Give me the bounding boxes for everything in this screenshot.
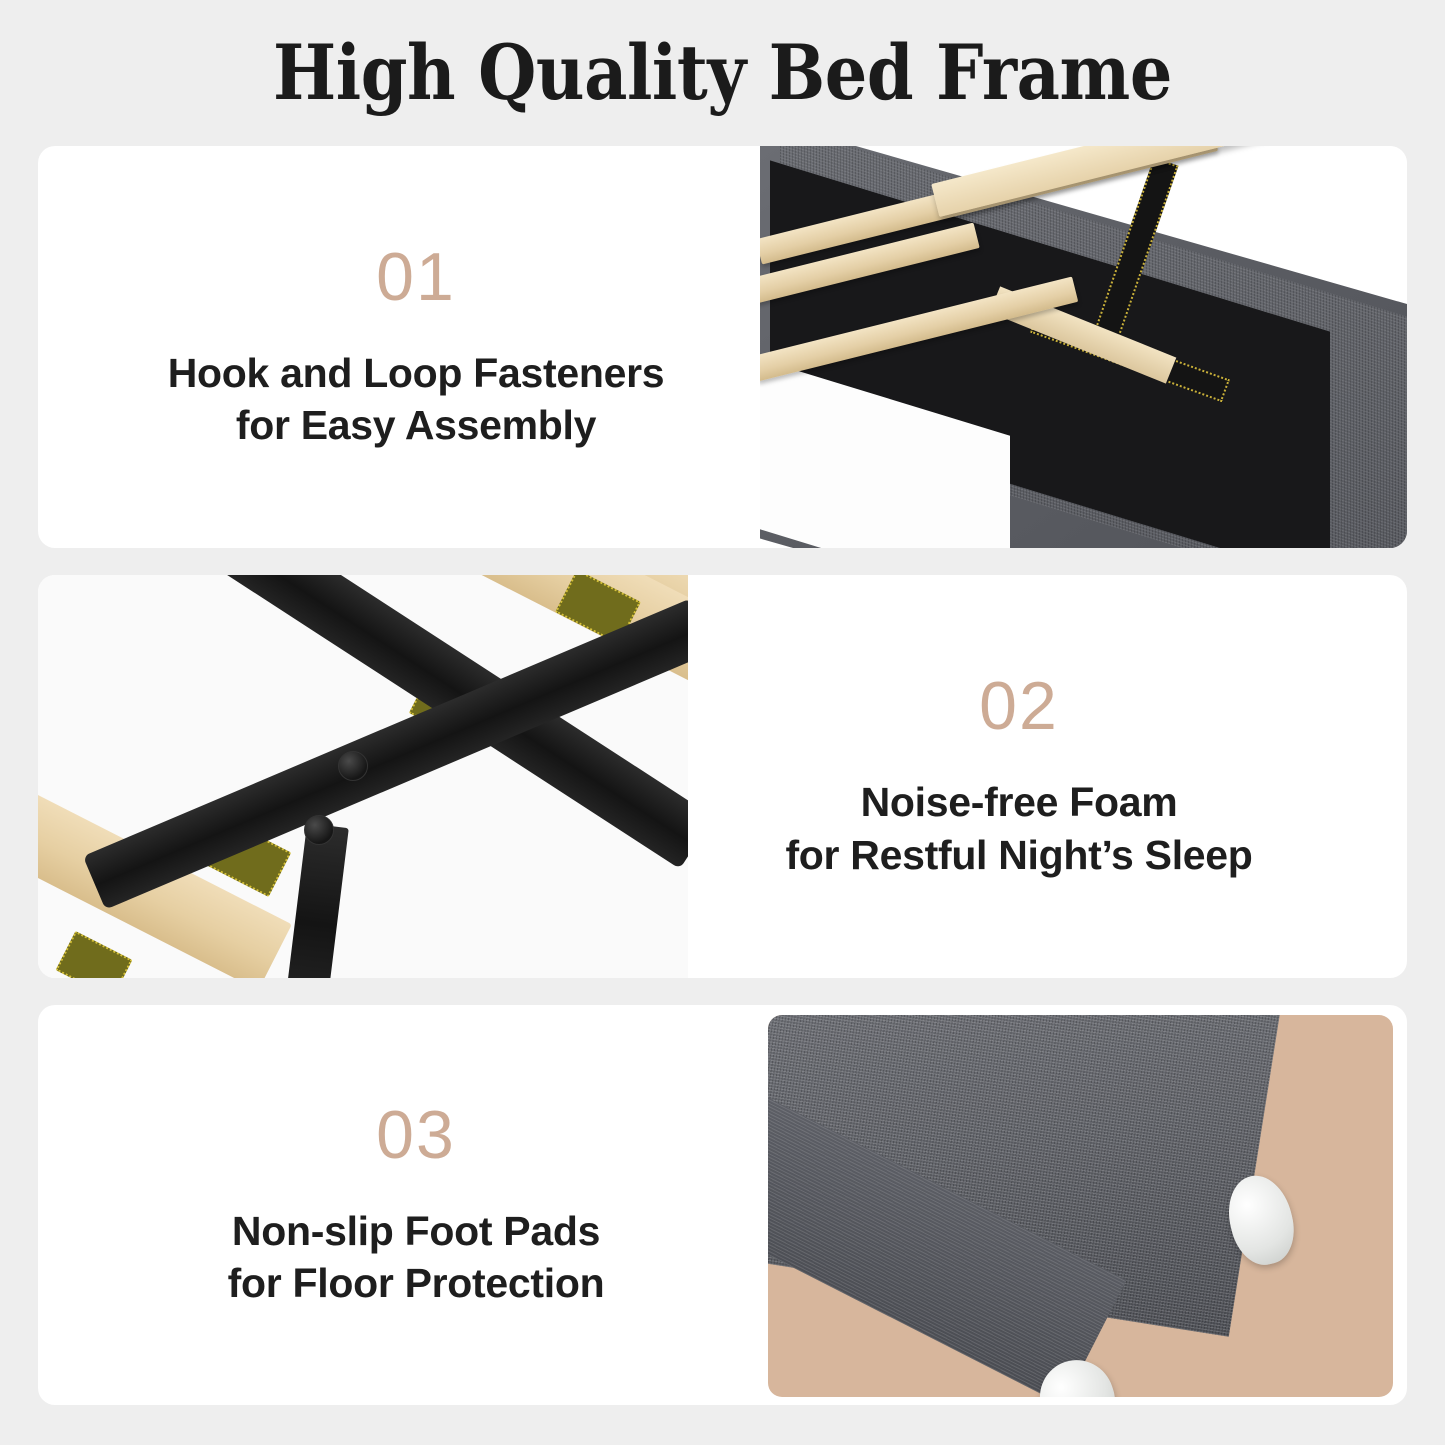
- feature-2-step-number: 02: [979, 672, 1059, 740]
- feature-3-photo-non-slip-foot-pads: [768, 1015, 1393, 1397]
- feature-card-1: 01 Hook and Loop Fasteners for Easy Asse…: [38, 146, 1407, 548]
- page-title: High Quality Bed Frame: [87, 28, 1359, 117]
- feature-1-photo-hook-and-loop-fasteners: [760, 146, 1407, 548]
- feature-2-title: Noise-free Foam for Restful Night’s Slee…: [785, 776, 1252, 881]
- feature-card-2: 02 Noise-free Foam for Restful Night’s S…: [38, 575, 1407, 978]
- feature-2-title-line-2: for Restful Night’s Sleep: [785, 829, 1252, 881]
- feature-1-step-number: 01: [376, 243, 456, 311]
- feature-3-title-line-2: for Floor Protection: [228, 1257, 605, 1309]
- feature-2-text-column: 02 Noise-free Foam for Restful Night’s S…: [679, 575, 1359, 978]
- feature-1-title-line-2: for Easy Assembly: [168, 399, 665, 451]
- bolt-2: [304, 815, 334, 845]
- feature-3-step-number: 03: [376, 1101, 456, 1169]
- feature-card-3: 03 Non-slip Foot Pads for Floor Protecti…: [38, 1005, 1407, 1405]
- feature-1-title-line-1: Hook and Loop Fasteners: [168, 347, 665, 399]
- feature-2-photo-noise-free-foam: [38, 575, 688, 978]
- feature-1-text-column: 01 Hook and Loop Fasteners for Easy Asse…: [86, 146, 746, 548]
- feature-3-title: Non-slip Foot Pads for Floor Protection: [228, 1205, 605, 1310]
- feature-3-title-line-1: Non-slip Foot Pads: [228, 1205, 605, 1257]
- feature-1-title: Hook and Loop Fasteners for Easy Assembl…: [168, 347, 665, 452]
- bolt-1: [338, 751, 368, 781]
- feature-3-text-column: 03 Non-slip Foot Pads for Floor Protecti…: [86, 1005, 746, 1405]
- feature-2-title-line-1: Noise-free Foam: [785, 776, 1252, 828]
